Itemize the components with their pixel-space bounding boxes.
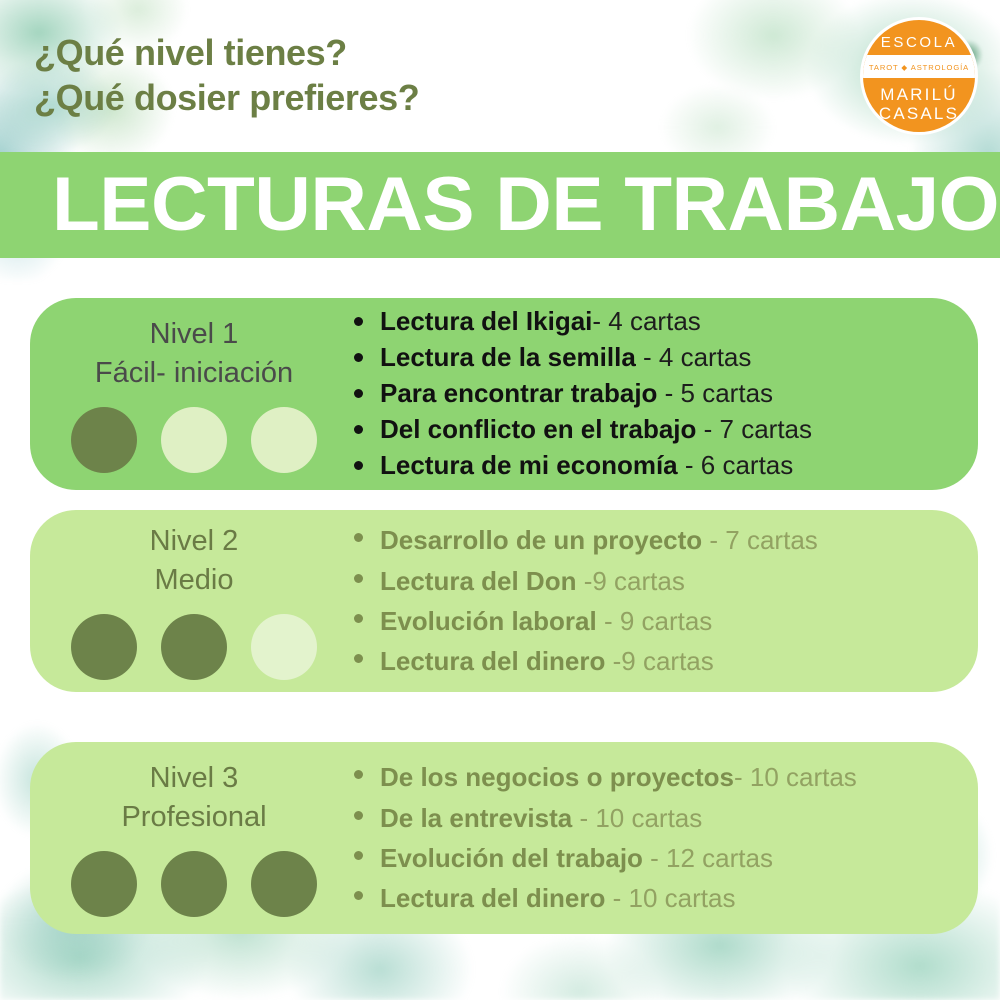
level-card-1: Nivel 1 Fácil- iniciación Lectura del Ik…: [30, 298, 978, 490]
logo-school-word: ESCOLA: [881, 35, 957, 50]
list-item: Evolución laboral - 9 cartas: [350, 601, 960, 641]
reading-name: Para encontrar trabajo: [380, 378, 657, 408]
level-card-2-readings: Desarrollo de un proyecto - 7 cartas Lec…: [350, 520, 978, 681]
reading-cards: - 10 cartas: [572, 803, 702, 833]
page-title: LECTURAS DE TRABAJO: [52, 167, 999, 243]
level-card-2-difficulty-dots: [71, 614, 317, 680]
list-item: Lectura de mi economía - 6 cartas: [350, 448, 960, 484]
reading-cards: -9 cartas: [605, 646, 713, 676]
list-item: Lectura del dinero -9 cartas: [350, 641, 960, 681]
reading-name: Lectura de mi economía: [380, 450, 678, 480]
level-card-3-heading: Nivel 3 Profesional: [121, 759, 266, 837]
difficulty-dot-filled: [71, 407, 137, 473]
reading-cards: - 4 cartas: [592, 306, 700, 336]
reading-name: Evolución del trabajo: [380, 843, 643, 873]
reading-cards: - 7 cartas: [696, 414, 812, 444]
level-card-1-difficulty-dots: [71, 407, 317, 473]
difficulty-dot-filled: [161, 851, 227, 917]
reading-list: Lectura del Ikigai- 4 cartas Lectura de …: [350, 304, 960, 483]
brand-logo: ESCOLA TAROT ◆ ASTROLOGÍA MARILÚ CASALS: [860, 17, 978, 135]
list-item: Lectura del Don -9 cartas: [350, 561, 960, 601]
list-item: Desarrollo de un proyecto - 7 cartas: [350, 520, 960, 560]
list-item: Lectura de la semilla - 4 cartas: [350, 340, 960, 376]
reading-name: Evolución laboral: [380, 606, 597, 636]
reading-cards: - 9 cartas: [597, 606, 713, 636]
header-question-line-1: ¿Qué nivel tienes?: [34, 30, 419, 75]
reading-cards: -9 cartas: [576, 566, 684, 596]
header-question-line-2: ¿Qué dosier prefieres?: [34, 75, 419, 120]
list-item: De los negocios o proyectos- 10 cartas: [350, 757, 960, 797]
level-card-1-level-label: Nivel 1: [95, 315, 293, 354]
difficulty-dot-filled: [251, 851, 317, 917]
difficulty-dot-empty: [251, 614, 317, 680]
difficulty-dot-empty: [161, 407, 227, 473]
level-card-2: Nivel 2 Medio Desarrollo de un proyecto …: [30, 510, 978, 692]
reading-cards: - 7 cartas: [702, 525, 818, 555]
level-card-2-heading: Nivel 2 Medio: [150, 522, 239, 600]
difficulty-dot-filled: [71, 614, 137, 680]
level-card-3-difficulty-dots: [71, 851, 317, 917]
level-card-1-summary: Nivel 1 Fácil- iniciación: [30, 315, 350, 473]
level-card-3-readings: De los negocios o proyectos- 10 cartas D…: [350, 757, 978, 918]
level-card-2-level-label: Nivel 2: [150, 522, 239, 561]
level-card-3: Nivel 3 Profesional De los negocios o pr…: [30, 742, 978, 934]
reading-cards: - 10 cartas: [605, 883, 735, 913]
list-item: De la entrevista - 10 cartas: [350, 798, 960, 838]
reading-name: Lectura del dinero: [380, 646, 605, 676]
reading-name: Del conflicto en el trabajo: [380, 414, 696, 444]
reading-cards: - 5 cartas: [657, 378, 773, 408]
level-card-3-difficulty-label: Profesional: [121, 798, 266, 837]
level-card-1-heading: Nivel 1 Fácil- iniciación: [95, 315, 293, 393]
list-item: Del conflicto en el trabajo - 7 cartas: [350, 412, 960, 448]
level-card-2-difficulty-label: Medio: [150, 561, 239, 600]
list-item: Para encontrar trabajo - 5 cartas: [350, 376, 960, 412]
reading-name: Lectura del dinero: [380, 883, 605, 913]
reading-cards: - 4 cartas: [636, 342, 752, 372]
reading-cards: - 6 cartas: [678, 450, 794, 480]
reading-name: De la entrevista: [380, 803, 572, 833]
logo-brand-name-line-2: CASALS: [879, 104, 959, 123]
level-card-2-summary: Nivel 2 Medio: [30, 522, 350, 680]
header-questions: ¿Qué nivel tienes? ¿Qué dosier prefieres…: [34, 30, 419, 121]
reading-name: Lectura del Ikigai: [380, 306, 592, 336]
reading-cards: - 12 cartas: [643, 843, 773, 873]
difficulty-dot-empty: [251, 407, 317, 473]
poster-canvas: ¿Qué nivel tienes? ¿Qué dosier prefieres…: [0, 0, 1000, 1000]
logo-tagline: TAROT ◆ ASTROLOGÍA: [869, 63, 969, 72]
reading-list: Desarrollo de un proyecto - 7 cartas Lec…: [350, 520, 960, 681]
reading-list: De los negocios o proyectos- 10 cartas D…: [350, 757, 960, 918]
title-banner: LECTURAS DE TRABAJO: [0, 152, 1000, 258]
difficulty-dot-filled: [161, 614, 227, 680]
level-card-3-level-label: Nivel 3: [121, 759, 266, 798]
reading-name: Desarrollo de un proyecto: [380, 525, 702, 555]
logo-tagline-band: TAROT ◆ ASTROLOGÍA: [863, 55, 975, 78]
level-card-3-summary: Nivel 3 Profesional: [30, 759, 350, 917]
difficulty-dot-filled: [71, 851, 137, 917]
reading-name: Lectura de la semilla: [380, 342, 636, 372]
level-card-1-difficulty-label: Fácil- iniciación: [95, 354, 293, 393]
list-item: Lectura del dinero - 10 cartas: [350, 878, 960, 918]
list-item: Evolución del trabajo - 12 cartas: [350, 838, 960, 878]
list-item: Lectura del Ikigai- 4 cartas: [350, 304, 960, 340]
logo-brand-name-line-1: MARILÚ: [879, 85, 959, 104]
reading-name: Lectura del Don: [380, 566, 576, 596]
level-card-1-readings: Lectura del Ikigai- 4 cartas Lectura de …: [350, 304, 978, 483]
logo-brand-name: MARILÚ CASALS: [879, 85, 959, 123]
reading-cards: - 10 cartas: [734, 762, 857, 792]
reading-name: De los negocios o proyectos: [380, 762, 734, 792]
